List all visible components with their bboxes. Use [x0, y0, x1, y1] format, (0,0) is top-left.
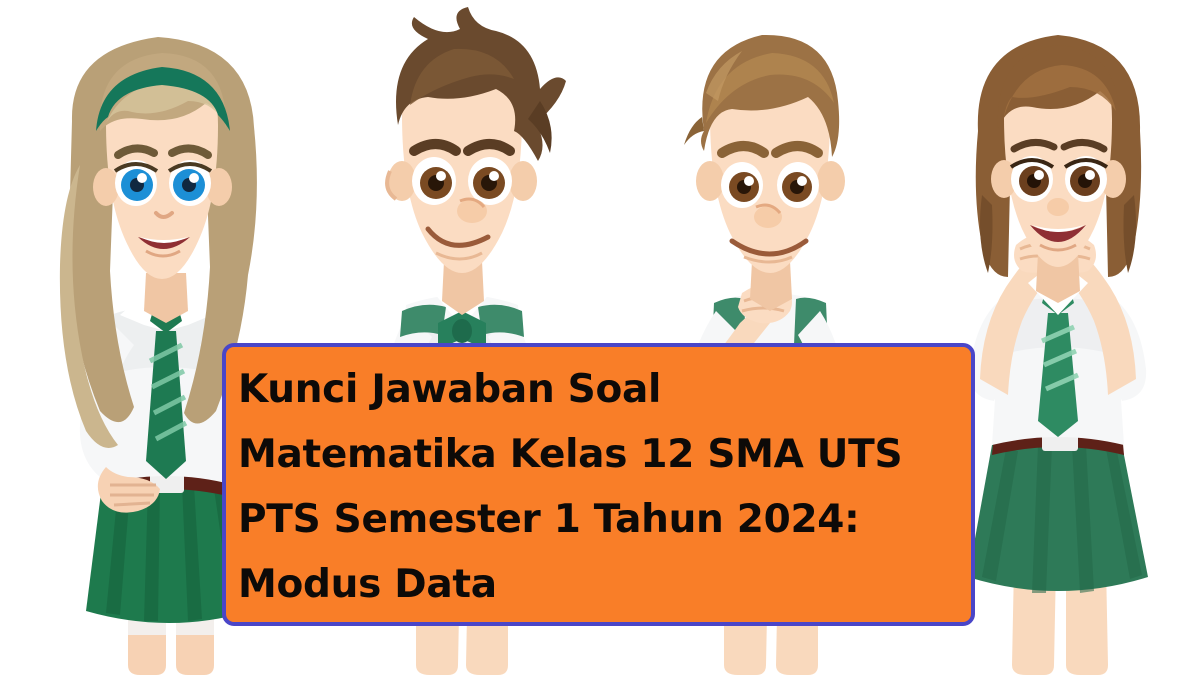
title-line-2: Matematika Kelas 12 SMA UTS — [238, 422, 953, 487]
title-line-1: Kunci Jawaban Soal — [238, 357, 953, 422]
title-banner: Kunci Jawaban Soal Matematika Kelas 12 S… — [222, 343, 975, 626]
thumbnail-canvas: Kunci Jawaban Soal Matematika Kelas 12 S… — [0, 0, 1200, 675]
title-line-3: PTS Semester 1 Tahun 2024: — [238, 487, 953, 552]
title-line-4: Modus Data — [238, 552, 953, 617]
